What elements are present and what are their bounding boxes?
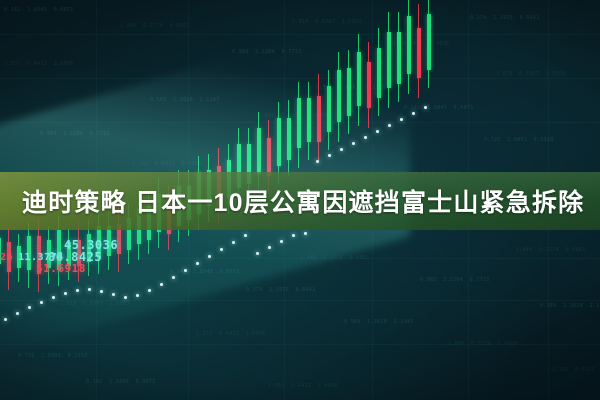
screenshot-root: 0.142 1.8843 0.0071 2.551 0.4412 1.0096 … <box>0 0 600 400</box>
headline-text: 迪时策略 日本一10层公寓因遮挡富士山紧急拆除 <box>0 172 600 230</box>
